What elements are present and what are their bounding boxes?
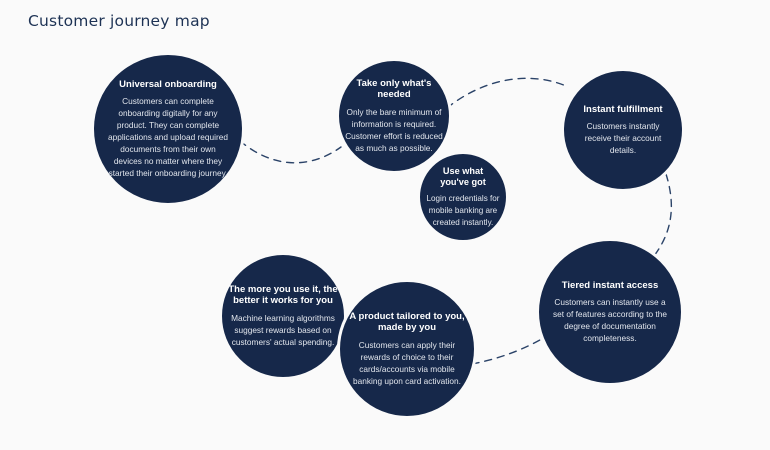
- node-title: A product tailored to you, made by you: [345, 311, 469, 334]
- connector-onboarding-to-needed: [240, 141, 341, 163]
- node-body: Machine learning algorithms suggest rewa…: [225, 312, 341, 348]
- node-body: Customers can apply their rewards of cho…: [348, 339, 466, 387]
- node-body: Only the bare minimum of information is …: [344, 106, 444, 154]
- node-body: Login credentials for mobile banking are…: [422, 193, 504, 228]
- node-take-only-whats-needed[interactable]: Take only what's needed Only the bare mi…: [336, 58, 452, 174]
- customer-journey-map-canvas: Customer journey map Universal onboardin…: [0, 0, 770, 450]
- node-body: Customers can instantly use a set of fea…: [548, 296, 672, 344]
- node-title: Take only what's needed: [347, 78, 441, 101]
- node-instant-fulfillment[interactable]: Instant fulfillment Customers instantly …: [561, 68, 685, 192]
- node-title: Universal onboarding: [119, 79, 217, 91]
- node-body: Customers instantly receive their accoun…: [573, 120, 673, 156]
- node-universal-onboarding[interactable]: Universal onboarding Customers can compl…: [91, 52, 245, 206]
- node-more-you-use-it[interactable]: The more you use it, the better it works…: [219, 252, 347, 380]
- connector-needed-to-fulfillment: [447, 78, 566, 108]
- node-body: Customers can complete onboarding digita…: [107, 95, 229, 179]
- connector-fulfillment-to-tiered: [654, 174, 671, 256]
- node-title: The more you use it, the better it works…: [225, 284, 341, 307]
- node-title: Use what you've got: [428, 166, 498, 188]
- node-title: Instant fulfillment: [583, 104, 662, 116]
- node-product-tailored[interactable]: A product tailored to you, made by you C…: [337, 279, 477, 419]
- node-use-what-youve-got[interactable]: Use what you've got Login credentials fo…: [417, 151, 509, 243]
- node-title: Tiered instant access: [562, 280, 658, 292]
- node-tiered-instant-access[interactable]: Tiered instant access Customers can inst…: [536, 238, 684, 386]
